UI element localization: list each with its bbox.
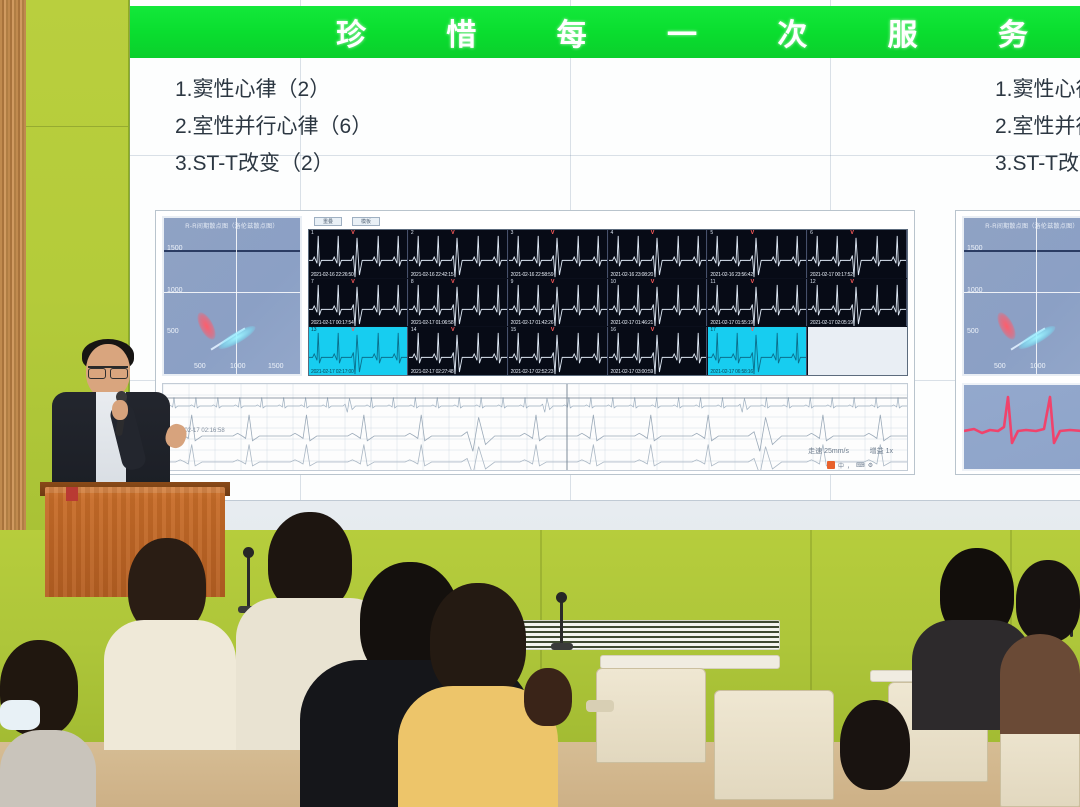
ecg-thumbnail-timestamp: 2021-02-17 00:17:52	[810, 272, 853, 278]
pvc-marker-label: V	[551, 279, 555, 285]
speaker-glasses	[88, 366, 128, 375]
ecg-waveform	[309, 279, 408, 327]
pvc-marker-label: V	[850, 279, 854, 285]
speaker-hand-left	[112, 400, 128, 420]
ecg-thumbnail-empty	[808, 327, 907, 375]
desk-microphone	[560, 600, 563, 644]
ecg-thumbnail-timestamp: 2021-02-17 06:58:16	[710, 369, 753, 375]
ecg-thumbnail-index: 1	[311, 230, 314, 236]
ecg-thumbnail-timestamp: 2021-02-17 01:06:58	[411, 320, 454, 326]
diagnosis-right-item-1: 1.窦性心律（2）	[995, 72, 1080, 109]
ecg-thumbnail[interactable]: 17 V 2021-02-17 06:58:16	[708, 327, 807, 375]
ecg-thumbnail-index: 3	[511, 230, 514, 236]
lorenz-ytick-1500: 1500	[167, 245, 183, 252]
diagnosis-item-3: 3.ST-T改变（2）	[175, 146, 595, 183]
pvc-marker-label: V	[451, 327, 455, 333]
audience-head	[268, 512, 352, 612]
ecg-thumbnail-timestamp: 2021-02-17 02:05:19	[810, 320, 853, 326]
rhythm-strip-waveform	[163, 384, 908, 471]
ecg-thumbnail-index: 7	[311, 279, 314, 285]
wood-panel-wall	[0, 0, 26, 530]
ecg-thumbnail-timestamp: 2021-02-16 22:58:59	[511, 272, 554, 278]
ecg-thumbnail[interactable]: 12 V 2021-02-17 02:05:19	[808, 279, 907, 327]
audience-head	[1016, 560, 1080, 642]
ecg-waveform	[609, 327, 708, 375]
ecg-thumbnail-timestamp: 2021-02-16 23:56:42	[710, 272, 753, 278]
pvc-marker-label: V	[750, 327, 754, 333]
ecg-thumbnail-timestamp: 2021-02-16 23:08:20	[611, 272, 654, 278]
ecg-thumbnail-timestamp: 2021-02-16 22:26:50	[311, 272, 354, 278]
lorenz-right-cluster-pvc	[994, 310, 1020, 343]
ecg-waveform	[609, 230, 708, 278]
ecg-waveform	[509, 230, 608, 278]
toolbar-button-template[interactable]: 模板	[352, 217, 380, 226]
ecg-thumbnail[interactable]: 9 V 2021-02-17 01:42:26	[509, 279, 608, 327]
diagnosis-right-item-3: 3.ST-T改变（2）	[995, 146, 1080, 183]
ecg-thumbnail[interactable]: 16 V 2021-02-17 03:00:59	[609, 327, 708, 375]
strip-gain-label: 增益 1x	[870, 446, 893, 456]
slide-banner: 珍 惜 每 一 次 服 务	[130, 6, 1080, 58]
audience-body	[1000, 634, 1080, 734]
lorenz-right-ytick-1500: 1500	[967, 245, 983, 252]
lorenz-xtick-500: 500	[194, 363, 206, 370]
ecg-thumbnail-timestamp: 2021-02-17 00:17:54	[311, 320, 354, 326]
ime-logo-icon	[827, 461, 835, 469]
ecg-thumbnail-index: 13	[311, 327, 317, 333]
seat-armrest	[586, 700, 614, 712]
ecg-thumbnail[interactable]: 4 V 2021-02-16 23:08:20	[609, 230, 708, 278]
desk-microphone	[247, 555, 250, 607]
ecg-thumbnail-grid[interactable]: 1 V 2021-02-16 22:26:50 2 V 2021-02-16 2…	[308, 229, 908, 376]
ecg-thumbnail[interactable]: 7 V 2021-02-17 00:17:54	[309, 279, 408, 327]
pvc-marker-label: V	[850, 230, 854, 236]
ecg-waveform	[509, 279, 608, 327]
ecg-thumbnail-index: 10	[611, 279, 617, 285]
desk-microphone-base	[551, 643, 573, 650]
lorenz-xtick-1000: 1000	[230, 363, 246, 370]
diagnosis-list: 1.窦性心律（2） 2.室性并行心律（6） 3.ST-T改变（2）	[175, 72, 595, 182]
ecg-waveform	[808, 230, 907, 278]
audience-head	[430, 583, 526, 699]
pvc-marker-label: V	[351, 230, 355, 236]
ecg-analysis-window[interactable]: R-R间期散点图（洛伦兹散点图） 1500 1000 500 500 1000 …	[155, 210, 915, 475]
ime-settings-icon[interactable]: ⚙	[868, 462, 873, 469]
diagnosis-list-right: 1.窦性心律（2） 2.室性并行心律（6） 3.ST-T改变（2）	[995, 72, 1080, 182]
pvc-marker-label: V	[651, 327, 655, 333]
ecg-thumbnail[interactable]: 5 V 2021-02-16 23:56:42	[708, 230, 807, 278]
lorenz-right-xtick-500: 500	[994, 363, 1006, 370]
pvc-marker-label: V	[351, 327, 355, 333]
lorenz-scatter-plot-right[interactable]: R-R间期散点图（洛伦兹散点图） 1500 1000 500 500 1000	[962, 216, 1080, 376]
audience-head	[840, 700, 910, 790]
ecg-waveform	[309, 230, 408, 278]
ecg-thumbnail-index: 8	[411, 279, 414, 285]
lorenz-right-ytick-1000: 1000	[967, 287, 983, 294]
lorenz-cluster-sinus	[216, 322, 258, 353]
ecg-thumbnail-timestamp: 2021-02-17 01:55:19	[710, 320, 753, 326]
pink-waveform	[964, 385, 1080, 471]
lecture-desk	[600, 655, 780, 669]
ecg-waveform	[708, 279, 807, 327]
lecture-seat	[714, 690, 834, 800]
lorenz-scatter-plot[interactable]: R-R间期散点图（洛伦兹散点图） 1500 1000 500 500 1000 …	[162, 216, 302, 376]
audience-body	[104, 620, 236, 750]
ecg-thumbnail-index: 11	[710, 279, 715, 285]
ecg-thumbnail-index: 14	[411, 327, 417, 333]
ime-mode-label[interactable]: 中	[838, 461, 844, 470]
ecg-waveform	[609, 279, 708, 327]
ecg-thumbnail-timestamp: 2021-02-17 02:27:48	[411, 369, 454, 375]
ecg-thumbnail-index: 17	[710, 327, 716, 333]
face-mask	[0, 700, 40, 730]
ime-toolbar[interactable]: 中 ， ⌨ ⚙	[827, 460, 895, 470]
ecg-analysis-window-right[interactable]: R-R间期散点图（洛伦兹散点图） 1500 1000 500 500 1000	[955, 210, 1080, 475]
pvc-marker-label: V	[451, 230, 455, 236]
ecg-thumbnail-timestamp: 2021-02-17 02:52:23	[511, 369, 554, 375]
toolbar-button-overlay[interactable]: 重叠	[314, 217, 342, 226]
lorenz-right-cluster-sinus	[1016, 322, 1058, 353]
ecg-thumbnail-timestamp: 2021-02-17 01:46:21	[611, 320, 654, 326]
ime-punct-icon[interactable]: ，	[847, 461, 853, 470]
lorenz-ytick-500: 500	[167, 328, 179, 335]
diagnosis-item-2: 2.室性并行心律（6）	[175, 109, 595, 146]
diagnosis-right-item-2: 2.室性并行心律（6）	[995, 109, 1080, 146]
ecg-thumbnail[interactable]: 13 V 2021-02-17 02:17:00	[309, 327, 408, 375]
lorenz-xtick-1500: 1500	[268, 363, 284, 370]
lorenz-title: R-R间期散点图（洛伦兹散点图）	[185, 221, 278, 230]
diagnosis-item-1: 1.窦性心律（2）	[175, 72, 595, 109]
ecg-thumbnail-index: 5	[710, 230, 713, 236]
ecg-thumbnail-index: 6	[810, 230, 813, 236]
ecg-thumbnail-timestamp: 2021-02-17 02:17:00	[311, 369, 354, 375]
pvc-marker-label: V	[451, 279, 455, 285]
ecg-waveform	[309, 327, 408, 375]
pvc-marker-label: V	[750, 279, 754, 285]
ecg-thumbnail[interactable]: 14 V 2021-02-17 02:27:48	[409, 327, 508, 375]
ecg-rhythm-strip[interactable]: 2021-02-17 02:16:58 走速 25mm/s 增益 1x 中 ， …	[162, 383, 908, 471]
ecg-thumbnail-index: 12	[810, 279, 816, 285]
lecture-seat	[596, 668, 706, 763]
ecg-thumbnail[interactable]: 11 V 2021-02-17 01:55:19	[708, 279, 807, 327]
lorenz-title-right: R-R间期散点图（洛伦兹散点图）	[985, 221, 1078, 230]
strip-speed-label: 走速 25mm/s	[808, 446, 849, 456]
lorenz-right-xtick-1000: 1000	[1030, 363, 1046, 370]
pvc-marker-label: V	[551, 327, 555, 333]
ecg-waveform-panel-right[interactable]	[962, 383, 1080, 471]
audience-body	[0, 730, 96, 807]
ecg-waveform	[708, 230, 807, 278]
ecg-thumbnail-index: 2	[411, 230, 414, 236]
pvc-marker-label: V	[351, 279, 355, 285]
ecg-thumbnail-index: 16	[611, 327, 617, 333]
lecture-hall-scene: 珍 惜 每 一 次 服 务 1.窦性心律（2） 2.室性并行心律（6） 3.ST…	[0, 0, 1080, 807]
pvc-marker-label: V	[651, 230, 655, 236]
ecg-thumbnail[interactable]: 2 V 2021-02-16 22:42:15	[409, 230, 508, 278]
ecg-thumbnail-index: 15	[511, 327, 517, 333]
ecg-thumbnail[interactable]: 1 V 2021-02-16 22:26:50	[309, 230, 408, 278]
ecg-waveform	[708, 327, 807, 375]
pvc-marker-label: V	[750, 230, 754, 236]
ecg-waveform	[409, 327, 508, 375]
ime-tool-icon[interactable]: ⌨	[856, 462, 865, 469]
ecg-thumbnail-timestamp: 2021-02-16 22:42:15	[411, 272, 454, 278]
ecg-waveform	[509, 327, 608, 375]
projection-screen: 珍 惜 每 一 次 服 务 1.窦性心律（2） 2.室性并行心律（6） 3.ST…	[130, 0, 1080, 500]
ecg-waveform	[409, 230, 508, 278]
ecg-thumbnail-index: 9	[511, 279, 514, 285]
ecg-thumbnail[interactable]: 15 V 2021-02-17 02:52:23	[509, 327, 608, 375]
podium-badge	[66, 487, 78, 501]
ecg-thumbnail-timestamp: 2021-02-17 03:00:59	[611, 369, 654, 375]
lorenz-ytick-1000: 1000	[167, 287, 183, 294]
pvc-marker-label: V	[651, 279, 655, 285]
ecg-thumbnail[interactable]: 3 V 2021-02-16 22:58:59	[509, 230, 608, 278]
ecg-thumbnail-index: 4	[611, 230, 614, 236]
pvc-marker-label: V	[551, 230, 555, 236]
audience-head	[524, 668, 572, 726]
lorenz-right-ytick-500: 500	[967, 328, 979, 335]
ecg-thumbnail[interactable]: 10 V 2021-02-17 01:46:21	[609, 279, 708, 327]
ecg-thumbnail[interactable]: 6 V 2021-02-17 00:17:52	[808, 230, 907, 278]
ecg-waveform	[808, 279, 907, 327]
ecg-waveform	[409, 279, 508, 327]
lorenz-cluster-pvc	[194, 310, 220, 343]
ecg-thumbnail-timestamp: 2021-02-17 01:42:26	[511, 320, 554, 326]
ecg-thumbnail[interactable]: 8 V 2021-02-17 01:06:58	[409, 279, 508, 327]
